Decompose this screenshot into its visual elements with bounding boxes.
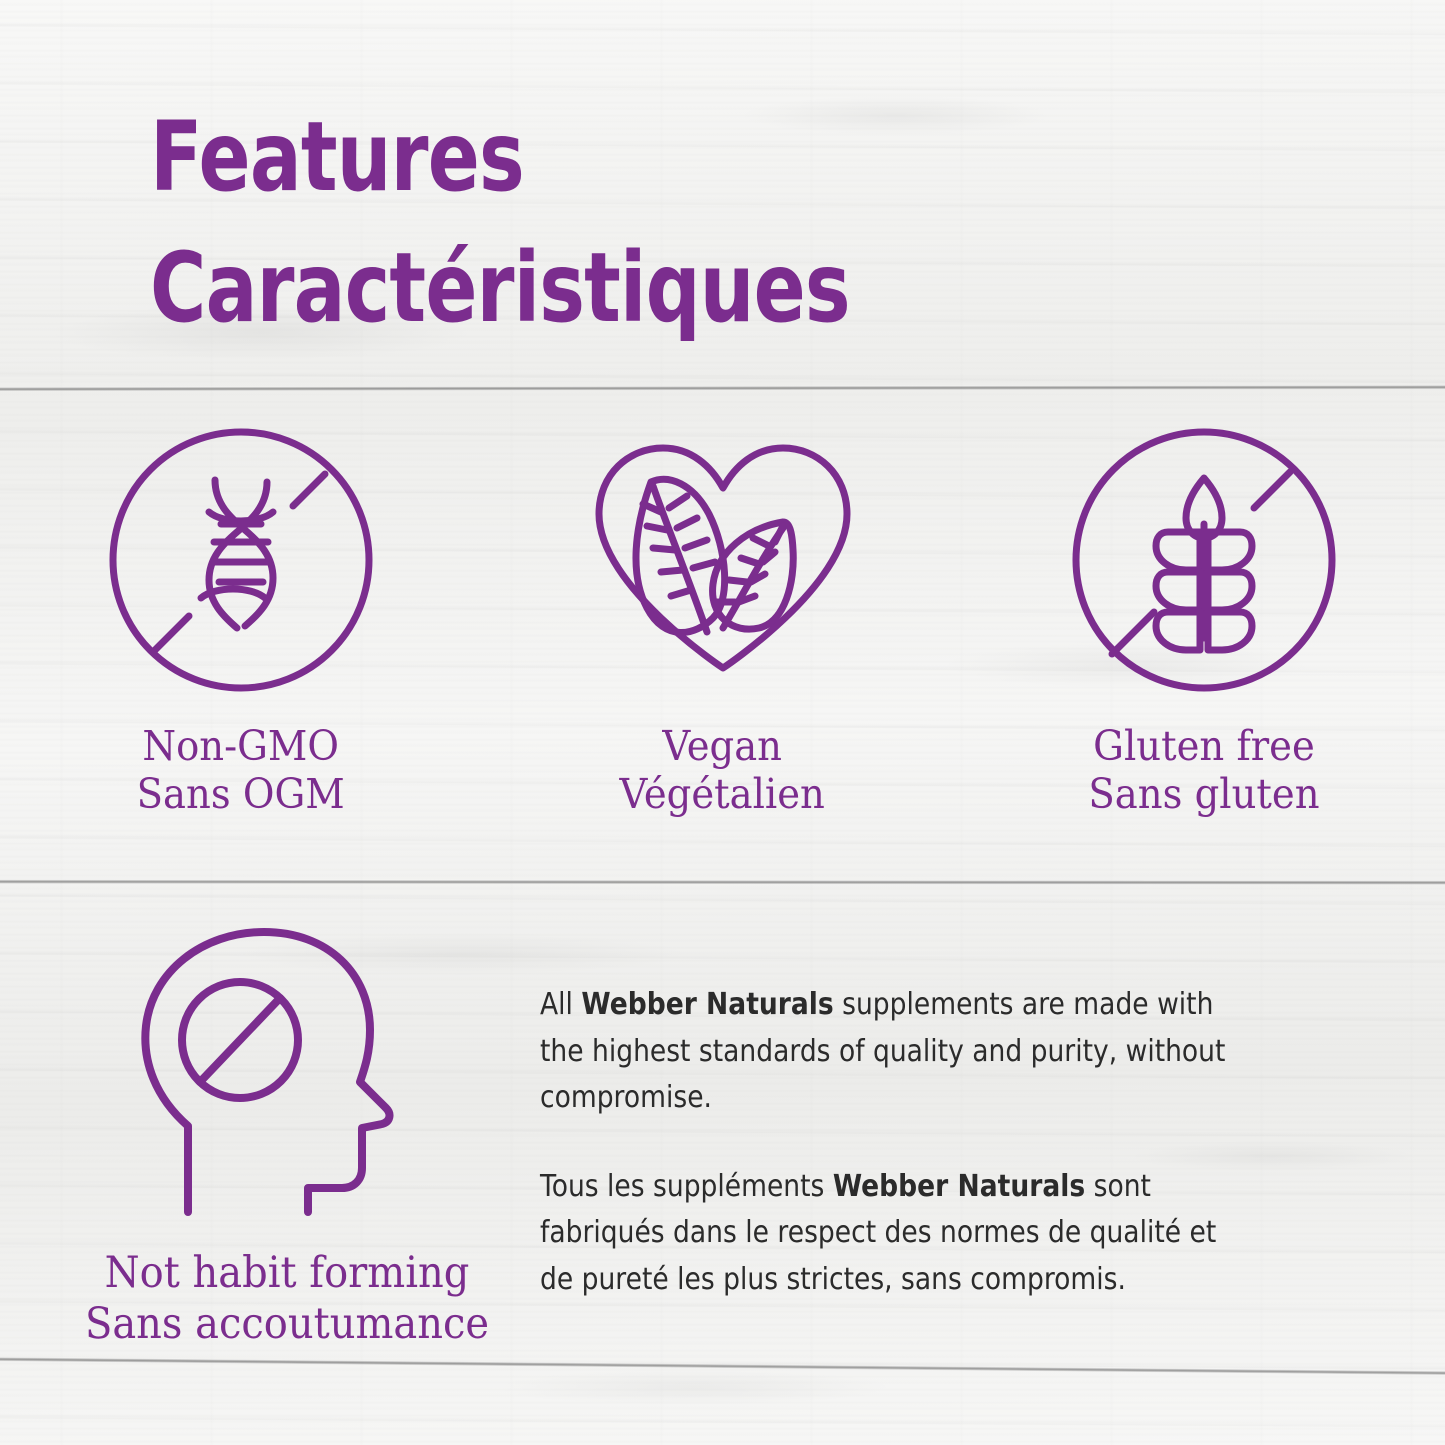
bottom-section: Not habit forming Sans accoutumance All …	[0, 900, 1445, 1370]
page-title-en: Features	[150, 92, 1070, 223]
no-gmo-dna-icon	[101, 415, 381, 705]
feature-caption: Gluten free Sans gluten	[1089, 723, 1320, 819]
feature-panel: Features Caractéristiques	[0, 0, 1445, 1445]
feature-label-en: Vegan	[620, 723, 825, 771]
feature-non-gmo: Non-GMO Sans OGM	[0, 415, 482, 845]
feature-label-fr: Sans gluten	[1089, 771, 1320, 819]
feature-gluten-free: Gluten free Sans gluten	[963, 415, 1445, 845]
feature-caption: Vegan Végétalien	[620, 723, 825, 819]
not-habit-forming-head-icon	[52, 900, 522, 1242]
feature-label-en: Non-GMO	[137, 723, 345, 771]
feature-vegan: Vegan Végétalien	[482, 415, 964, 845]
feature-label-fr: Sans OGM	[137, 771, 345, 819]
feature-caption: Not habit forming Sans accoutumance	[68, 1248, 505, 1349]
feature-label-fr: Sans accoutumance	[68, 1299, 505, 1350]
feature-label-en: Gluten free	[1089, 723, 1320, 771]
feature-label-fr: Végétalien	[620, 771, 825, 819]
vegan-heart-leaf-icon	[583, 415, 863, 705]
feature-row: Non-GMO Sans OGM	[0, 415, 1445, 845]
feature-label-en: Not habit forming	[68, 1248, 505, 1299]
paragraph-en-before: All	[540, 987, 581, 1022]
feature-not-habit-forming: Not habit forming Sans accoutumance	[52, 900, 522, 1349]
page-title: Features Caractéristiques	[150, 92, 1070, 353]
paragraph-fr-before: Tous les suppléments	[540, 1169, 833, 1204]
paragraph-fr: Tous les suppléments Webber Naturals son…	[540, 1164, 1239, 1304]
feature-caption: Non-GMO Sans OGM	[137, 723, 345, 819]
page-title-fr: Caractéristiques	[150, 223, 1070, 354]
gluten-free-wheat-icon	[1064, 415, 1344, 705]
description-copy: All Webber Naturals supplements are made…	[540, 982, 1239, 1303]
brand-name: Webber Naturals	[581, 987, 833, 1022]
paragraph-en: All Webber Naturals supplements are made…	[540, 982, 1239, 1122]
brand-name: Webber Naturals	[833, 1169, 1085, 1204]
